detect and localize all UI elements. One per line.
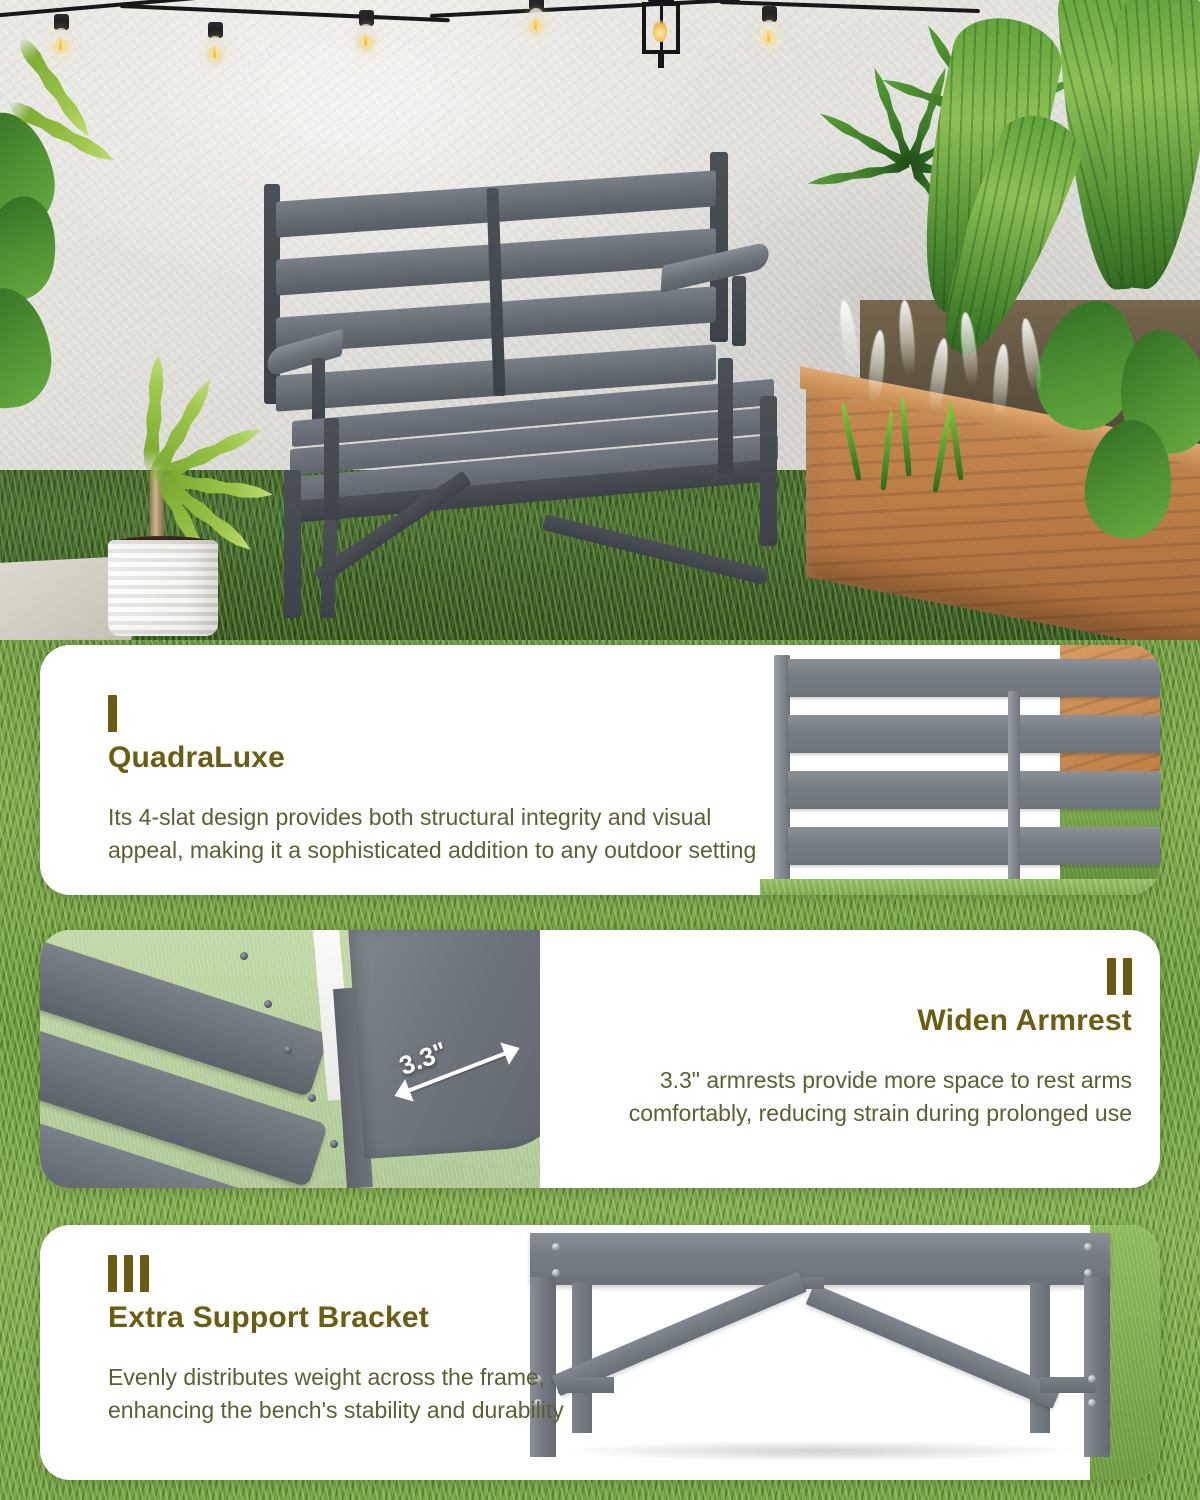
edison-bulb <box>50 14 72 60</box>
armrest-closeup-photo: 3.3" <box>40 930 540 1188</box>
screw-head <box>264 1000 272 1008</box>
bulb-filament <box>534 18 537 30</box>
bench-leg-right <box>1084 1277 1110 1457</box>
feature-2-text: Widen Armrest 3.3" armrests provide more… <box>532 958 1132 1129</box>
screw-head <box>240 952 248 960</box>
numeral-marker-three <box>108 1255 628 1292</box>
backrest-post-middle <box>1008 691 1020 891</box>
grass-strip <box>760 879 1160 895</box>
backrest-slat <box>788 659 1160 697</box>
bulb-filament <box>767 30 770 42</box>
screw-head <box>1084 1269 1092 1277</box>
feature-1-body: Its 4-slat design provides both structur… <box>108 801 768 866</box>
feature-panel-quadraluxe: QuadraLuxe Its 4-slat design provides bo… <box>40 645 1160 895</box>
numeral-bar <box>140 1255 149 1292</box>
bulb-filament <box>364 34 367 46</box>
feature-1-text: QuadraLuxe Its 4-slat design provides bo… <box>108 695 808 866</box>
backrest-slat <box>788 771 1160 809</box>
bench-floor-shadow <box>560 1440 1080 1462</box>
screw-head <box>1084 1243 1092 1251</box>
numeral-marker-one <box>108 695 808 732</box>
bench-arm-support-right <box>732 276 746 346</box>
edison-bulb <box>204 22 226 68</box>
lantern-stem <box>658 52 664 68</box>
wall-lantern <box>638 0 684 68</box>
numeral-bar <box>108 695 117 732</box>
screw-head <box>1088 1375 1096 1383</box>
bench-support-bracket <box>542 514 769 585</box>
backrest-slat <box>788 827 1160 865</box>
numeral-bar <box>108 1255 117 1292</box>
backrest-slat <box>788 715 1160 753</box>
numeral-bar <box>1107 958 1116 995</box>
hero-product-photo <box>0 0 1200 648</box>
feature-2-body: 3.3" armrests provide more space to rest… <box>552 1064 1132 1129</box>
edison-bulb <box>758 6 780 52</box>
feature-panel-widen-armrest: 3.3" Widen Armrest 3.3" armrests provide… <box>40 930 1160 1188</box>
bench-leg-front-right <box>760 396 777 546</box>
bench-leg-back-right <box>718 358 733 474</box>
feature-panel-support-bracket: Extra Support Bracket Evenly distributes… <box>40 1225 1160 1480</box>
white-planter-pot <box>108 540 218 636</box>
feature-3-body: Evenly distributes weight across the fra… <box>108 1361 588 1426</box>
feature-2-title: Widen Armrest <box>532 1004 1132 1038</box>
bench-stretcher <box>320 520 337 618</box>
bench-inner-leg-right <box>1030 1283 1050 1433</box>
bulb-filament <box>59 38 62 50</box>
bench-leg-back-left <box>324 418 339 530</box>
support-bracket-apex <box>802 1277 824 1289</box>
screw-head <box>284 1046 292 1054</box>
screw-head <box>1088 1399 1096 1407</box>
feature-3-title: Extra Support Bracket <box>108 1301 628 1335</box>
support-bracket-brace-right <box>806 1284 1061 1409</box>
edison-bulb <box>525 0 547 40</box>
bench-leg-front-left <box>284 470 301 618</box>
numeral-bar <box>124 1255 133 1292</box>
four-slat-backrest-photo <box>760 645 1160 895</box>
numeral-marker-two <box>532 958 1132 995</box>
edison-bulb <box>355 10 377 56</box>
gray-slat-bench <box>262 150 832 620</box>
screw-head <box>330 1140 338 1148</box>
screw-head <box>552 1243 560 1251</box>
numeral-bar <box>1123 958 1132 995</box>
feature-3-text: Extra Support Bracket Evenly distributes… <box>108 1255 628 1426</box>
screw-head <box>308 1094 316 1102</box>
lantern-flame <box>653 20 667 42</box>
bulb-filament <box>213 46 216 58</box>
feature-1-title: QuadraLuxe <box>108 741 808 775</box>
